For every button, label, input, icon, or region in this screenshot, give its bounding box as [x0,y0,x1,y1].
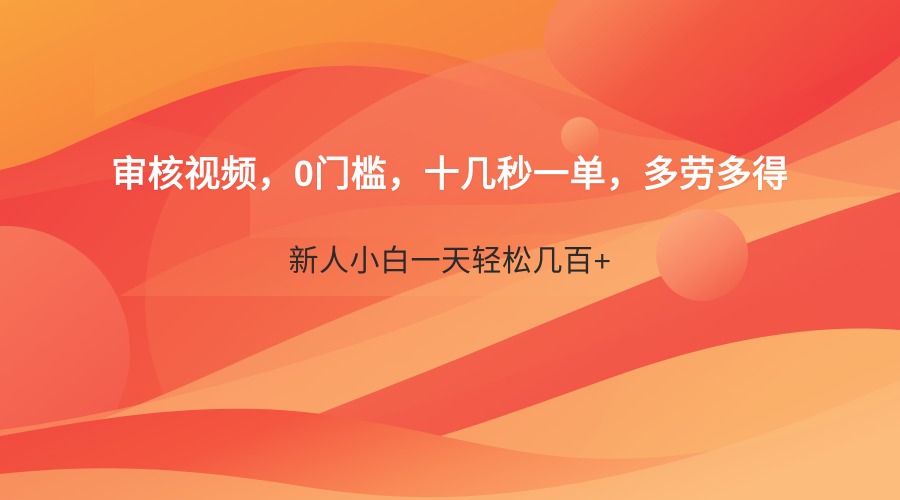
background-artwork [0,0,900,500]
promo-banner: 审核视频，0门槛，十几秒一单，多劳多得 新人小白一天轻松几百+ [0,0,900,500]
